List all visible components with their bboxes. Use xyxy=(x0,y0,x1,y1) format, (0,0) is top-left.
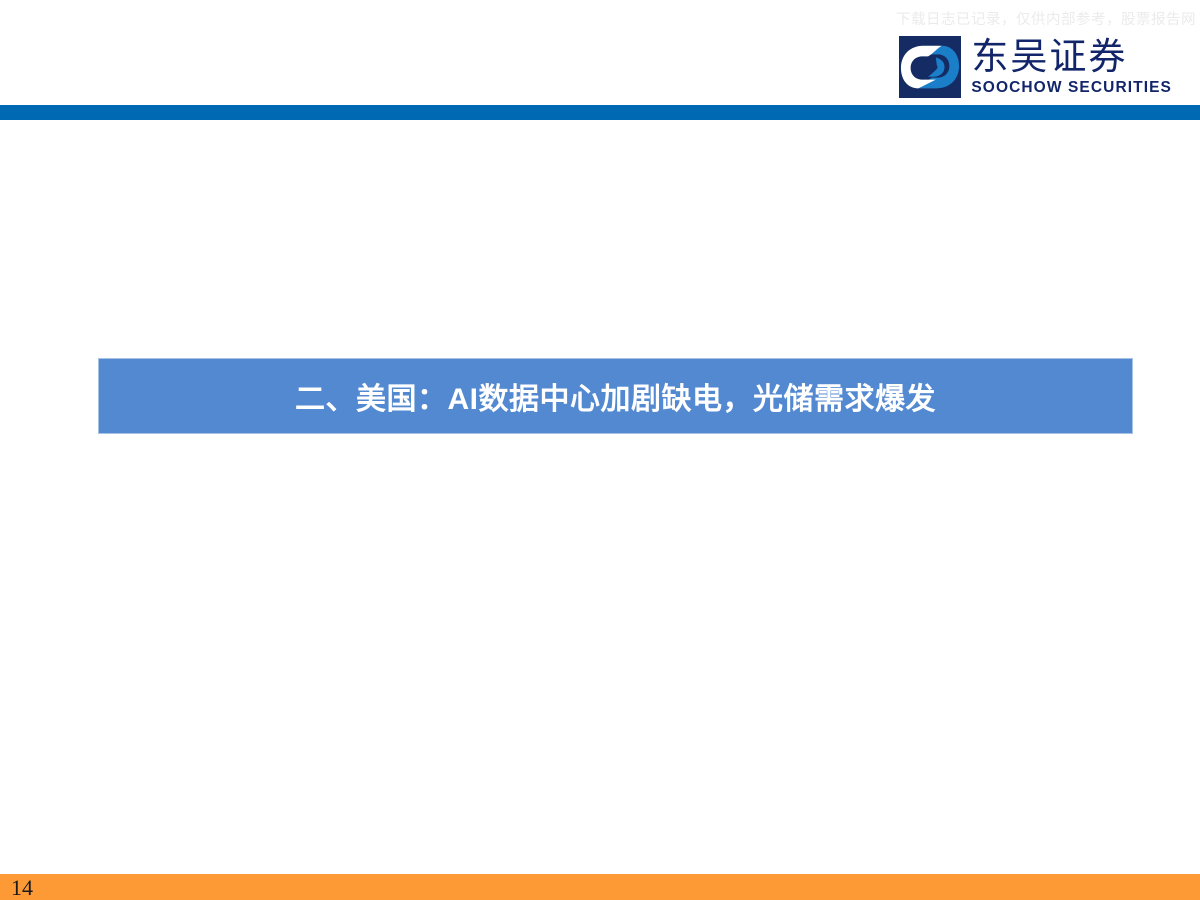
slide-canvas: 下载日志已记录，仅供内部参考，股票报告网 东吴证券 SOOCHOW SECURI… xyxy=(0,0,1200,900)
brand-text-block: 东吴证券 SOOCHOW SECURITIES xyxy=(971,38,1172,96)
footer-bar xyxy=(0,874,1200,900)
page-number: 14 xyxy=(11,876,33,900)
brand-logo: 东吴证券 SOOCHOW SECURITIES xyxy=(899,36,1172,98)
brand-name-cn: 东吴证券 xyxy=(971,38,1172,75)
section-title-banner: 二、美国：AI数据中心加剧缺电，光储需求爆发 xyxy=(98,358,1133,434)
brand-name-en: SOOCHOW SECURITIES xyxy=(971,80,1172,96)
section-title-text: 二、美国：AI数据中心加剧缺电，光储需求爆发 xyxy=(295,374,936,418)
soochow-securities-logo-mark xyxy=(899,36,961,98)
watermark-text: 下载日志已记录，仅供内部参考，股票报告网 xyxy=(896,8,1196,29)
header-divider-rule xyxy=(0,105,1200,120)
